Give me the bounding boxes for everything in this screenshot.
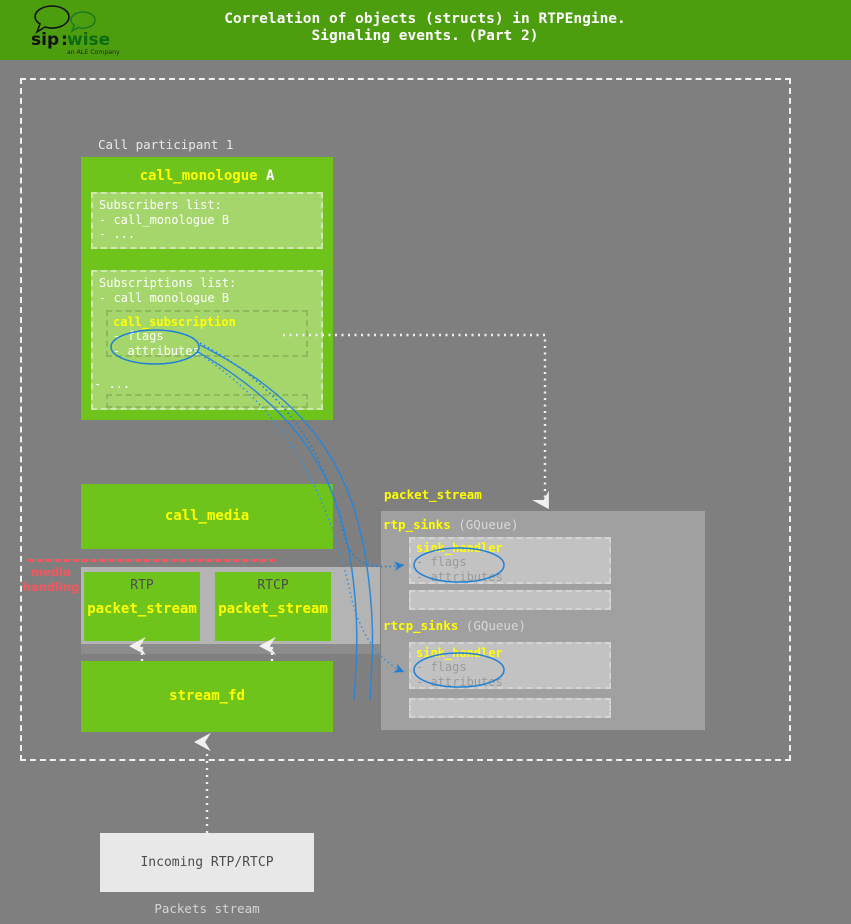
rtp-sink-handler-box[interactable]: sink_handler - flags - attributes <box>409 537 611 584</box>
rtcp-packet-stream-title: packet_stream <box>215 601 331 617</box>
stream-fd-title: stream_fd <box>81 688 333 704</box>
call-subscription-box[interactable]: call_subscription - flags - attributes <box>106 310 308 357</box>
subscriptions-heading: Subscriptions list: <box>99 276 316 291</box>
packet-stream-label: packet_stream <box>384 487 482 502</box>
stream-fd-box[interactable]: stream_fd <box>81 661 333 732</box>
rtp-label: RTP <box>84 578 200 593</box>
rtcp-sink-handler-placeholder-box <box>409 698 611 718</box>
subscribers-item-0: - call_monologue B <box>99 213 316 228</box>
rtcp-sink-handler-title: sink_handler <box>416 646 604 660</box>
subscribers-list-panel: Subscribers list: - call_monologue B - .… <box>91 192 323 249</box>
subscriptions-ellipsis: - ... <box>94 377 130 391</box>
sipwise-logo-icon: sip : wise an ALE Company <box>27 3 137 57</box>
incoming-rtp-rtcp-box: Incoming RTP/RTCP <box>100 833 314 892</box>
rtp-sinks-name: rtp_sinks <box>383 517 451 532</box>
call-media-title: call_media <box>81 508 333 524</box>
page-title: Correlation of objects (structs) in RTPE… <box>160 11 690 45</box>
call-subscription-field-flags: - flags <box>113 329 301 344</box>
subscriptions-item-0: - call monologue B <box>99 291 316 306</box>
subscribers-item-1: - ... <box>99 227 316 242</box>
rtcp-sinks-label: rtcp_sinks (GQueue) <box>383 618 526 633</box>
rtcp-sink-handler-box[interactable]: sink_handler - flags - attributes <box>409 642 611 689</box>
call-subscription-placeholder-box <box>106 394 308 408</box>
call-monologue-title-text: call_monologue <box>140 168 258 184</box>
call-monologue-title-suffix: A <box>258 168 275 184</box>
rtcp-sinks-name: rtcp_sinks <box>383 618 458 633</box>
diagram-canvas: sip : wise an ALE Company Correlation of… <box>0 0 851 924</box>
rtcp-packet-stream-box[interactable]: RTCP packet_stream <box>215 572 331 641</box>
rtcp-sinks-kind: (GQueue) <box>458 618 526 633</box>
page-header: sip : wise an ALE Company Correlation of… <box>0 0 851 60</box>
rtp-sinks-label: rtp_sinks (GQueue) <box>383 517 518 532</box>
rtp-sink-handler-title: sink_handler <box>416 541 604 555</box>
rtcp-sink-handler-field-attributes: - attributes <box>416 675 604 690</box>
rtp-sink-handler-placeholder-box <box>409 590 611 610</box>
call-subscription-field-attributes: - attributes <box>113 344 301 359</box>
media-handling-divider <box>28 559 275 562</box>
svg-text:wise: wise <box>67 30 110 50</box>
media-handling-label: media handling <box>22 565 80 595</box>
rtp-packet-stream-box[interactable]: RTP packet_stream <box>84 572 200 641</box>
rtp-sink-handler-field-attributes: - attributes <box>416 570 604 585</box>
incoming-rtp-rtcp-label: Incoming RTP/RTCP <box>140 855 273 870</box>
rtp-sinks-kind: (GQueue) <box>451 517 519 532</box>
svg-text:sip: sip <box>31 30 59 50</box>
rtcp-sink-handler-field-flags: - flags <box>416 660 604 675</box>
packets-stream-caption: Packets stream <box>100 901 314 916</box>
subscribers-heading: Subscribers list: <box>99 198 316 213</box>
call-media-box[interactable]: call_media <box>81 484 333 549</box>
call-monologue-title: call_monologue A <box>81 168 333 184</box>
rtcp-label: RTCP <box>215 578 331 593</box>
rtp-sink-handler-field-flags: - flags <box>416 555 604 570</box>
logo-tagline: an ALE Company <box>67 49 120 56</box>
rtp-packet-stream-title: packet_stream <box>84 601 200 617</box>
call-subscription-title: call_subscription <box>113 315 301 329</box>
call-participant-label: Call participant 1 <box>98 137 233 152</box>
